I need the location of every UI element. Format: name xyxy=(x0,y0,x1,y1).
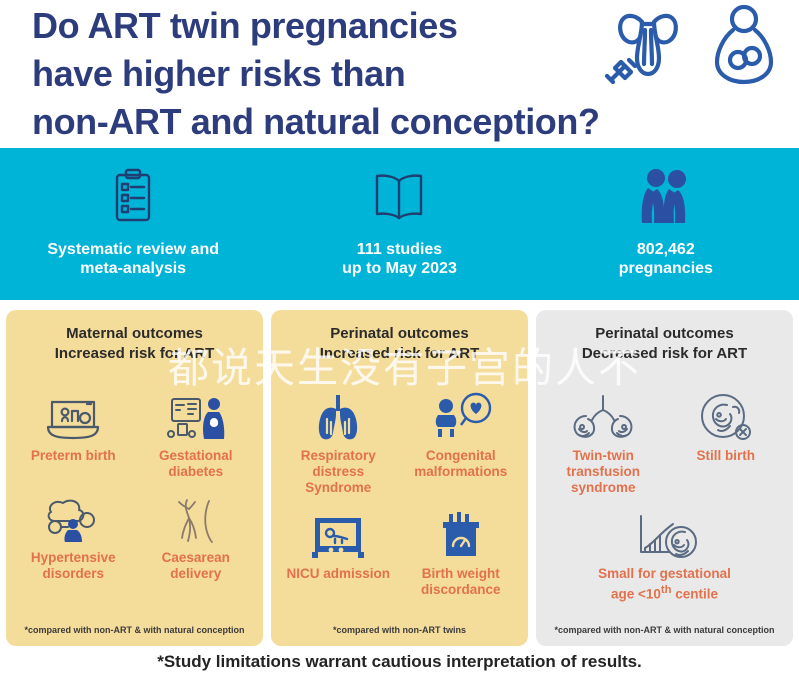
label-line-1: Still birth xyxy=(697,448,756,463)
label-line-3: syndrome xyxy=(566,480,640,496)
outcome-preterm-birth: Preterm birth xyxy=(14,384,133,480)
label-superscript: th xyxy=(661,584,672,596)
card-title-perinatal-decreased: Perinatal outcomes Decreased risk for AR… xyxy=(544,324,785,364)
card-perinatal-increased: Perinatal outcomes Increased risk for AR… xyxy=(271,310,528,646)
outcome-label-twin-twin-transfusion: Twin-twin transfusion syndrome xyxy=(566,448,640,496)
outcome-label-hypertensive-disorders: Hypertensive disorders xyxy=(31,550,116,582)
label-line-2: malformations xyxy=(414,464,507,480)
outcome-label-nicu-admission: NICU admission xyxy=(286,566,390,582)
incubator-icon xyxy=(45,384,101,442)
outcome-label-congenital-malformations: Congenital malformations xyxy=(414,448,507,480)
header: Do ART twin pregnancies have higher risk… xyxy=(0,0,799,148)
stat-item-pregnancies: 802,462 pregnancies xyxy=(533,148,799,300)
uterus-syringe-icon xyxy=(601,6,687,89)
baby-scale-icon xyxy=(435,502,487,560)
twin-fetuses-icon xyxy=(570,384,636,442)
blood-pressure-pregnant-icon xyxy=(43,486,103,544)
label-line-1: Gestational xyxy=(159,448,233,463)
label-line-2-text: age <10 xyxy=(611,587,661,602)
card-title-maternal: Maternal outcomes Increased risk for ART xyxy=(14,324,255,364)
outcome-label-still-birth: Still birth xyxy=(697,448,756,464)
label-line-1: Small for gestational xyxy=(598,566,731,581)
two-pregnant-people-icon xyxy=(639,164,693,228)
clipboard-checklist-icon xyxy=(110,164,156,228)
label-line-1: Birth weight xyxy=(422,566,500,581)
nicu-cot-icon xyxy=(309,502,367,560)
card-note-perinatal-increased: *compared with non-ART twins xyxy=(279,624,520,638)
outcome-label-gestational-diabetes: Gestational diabetes xyxy=(159,448,233,480)
infographic-page: Do ART twin pregnancies have higher risk… xyxy=(0,0,799,684)
outcome-nicu-admission: NICU admission xyxy=(279,502,398,598)
growth-chart-fetus-icon xyxy=(629,502,701,560)
header-icon-group xyxy=(601,4,781,90)
title-line-3: non-ART and natural conception? xyxy=(32,98,612,146)
outcome-gestational-diabetes: Gestational diabetes xyxy=(137,384,256,480)
label-line-2: diabetes xyxy=(159,464,233,480)
outcome-label-small-for-gestational-age: Small for gestational age <10th centile xyxy=(598,566,731,603)
statistics-band: Systematic review and meta-analysis 111 … xyxy=(0,148,799,300)
label-line-2: disorders xyxy=(31,566,116,582)
label-line-1: Respiratory distress xyxy=(301,448,376,479)
card-perinatal-decreased: Perinatal outcomes Decreased risk for AR… xyxy=(536,310,793,646)
label-line-2: age <10th centile xyxy=(598,582,731,603)
stat-item-systematic-review: Systematic review and meta-analysis xyxy=(0,148,266,300)
stat-line-2: pregnancies xyxy=(619,259,713,278)
label-line-2-suffix: centile xyxy=(672,587,719,602)
pregnant-woman-twins-icon xyxy=(711,4,777,91)
baby-heart-icon xyxy=(430,384,492,442)
title-line-1: Do ART twin pregnancies xyxy=(32,2,612,50)
outcome-birth-weight-discordance: Birth weight discordance xyxy=(402,502,521,598)
label-line-1: Congenital xyxy=(426,448,496,463)
outcome-congenital-malformations: Congenital malformations xyxy=(402,384,521,496)
outcome-label-preterm-birth: Preterm birth xyxy=(31,448,116,464)
outcome-grid-maternal: Preterm birth xyxy=(14,370,255,624)
label-line-1: NICU admission xyxy=(286,566,390,581)
stat-line-1: 802,462 xyxy=(637,241,695,258)
stat-label-systematic-review: Systematic review and meta-analysis xyxy=(47,240,219,278)
title-line-2: have higher risks than xyxy=(32,50,612,98)
outcome-small-for-gestational-age: Small for gestational age <10th centile xyxy=(544,502,785,603)
glucose-monitor-pregnant-icon xyxy=(166,384,226,442)
caesarean-scar-icon xyxy=(171,486,221,544)
card-title-line-2: Decreased risk for ART xyxy=(544,344,785,364)
outcome-grid-perinatal-increased: Respiratory distress Syndrome xyxy=(279,370,520,624)
card-title-perinatal-increased: Perinatal outcomes Increased risk for AR… xyxy=(279,324,520,364)
outcome-caesarean-delivery: Caesarean delivery xyxy=(137,486,256,582)
card-title-line-2: Increased risk for ART xyxy=(279,344,520,364)
outcome-label-birth-weight-discordance: Birth weight discordance xyxy=(421,566,501,598)
card-note-maternal: *compared with non-ART & with natural co… xyxy=(14,624,255,638)
label-line-2: Syndrome xyxy=(279,480,398,496)
outcome-grid-perinatal-decreased: Twin-twin transfusion syndrome xyxy=(544,370,785,624)
open-book-icon xyxy=(372,164,426,228)
card-title-line-1: Maternal outcomes xyxy=(66,325,203,342)
card-maternal-outcomes: Maternal outcomes Increased risk for ART xyxy=(6,310,263,646)
stat-item-studies: 111 studies up to May 2023 xyxy=(266,148,532,300)
outcome-label-respiratory-distress: Respiratory distress Syndrome xyxy=(279,448,398,496)
outcome-still-birth: Still birth xyxy=(667,384,786,496)
page-title: Do ART twin pregnancies have higher risk… xyxy=(32,2,612,146)
outcome-cards: Maternal outcomes Increased risk for ART xyxy=(0,310,799,646)
label-line-1: Twin-twin xyxy=(573,448,634,463)
stat-label-studies: 111 studies up to May 2023 xyxy=(342,240,457,278)
card-title-line-1: Perinatal outcomes xyxy=(595,325,733,342)
card-title-line-2: Increased risk for ART xyxy=(14,344,255,364)
label-line-2: delivery xyxy=(162,566,230,582)
stat-line-2: up to May 2023 xyxy=(342,259,457,278)
outcome-label-caesarean-delivery: Caesarean delivery xyxy=(162,550,230,582)
stat-line-2: meta-analysis xyxy=(47,259,219,278)
outcome-twin-twin-transfusion: Twin-twin transfusion syndrome xyxy=(544,384,663,496)
stat-label-pregnancies: 802,462 pregnancies xyxy=(619,240,713,278)
stat-line-1: 111 studies xyxy=(357,241,442,258)
label-line-1: Caesarean xyxy=(162,550,230,565)
outcome-respiratory-distress: Respiratory distress Syndrome xyxy=(279,384,398,496)
label-line-1: Preterm birth xyxy=(31,448,116,463)
card-note-perinatal-decreased: *compared with non-ART & with natural co… xyxy=(544,624,785,638)
stillbirth-icon xyxy=(697,384,755,442)
card-title-line-1: Perinatal outcomes xyxy=(330,325,468,342)
footer-disclaimer: *Study limitations warrant cautious inte… xyxy=(0,652,799,672)
outcome-hypertensive-disorders: Hypertensive disorders xyxy=(14,486,133,582)
lungs-icon xyxy=(310,384,366,442)
stat-line-1: Systematic review and xyxy=(47,241,219,258)
label-line-2: discordance xyxy=(421,582,501,598)
label-line-2: transfusion xyxy=(566,464,640,480)
label-line-1: Hypertensive xyxy=(31,550,116,565)
